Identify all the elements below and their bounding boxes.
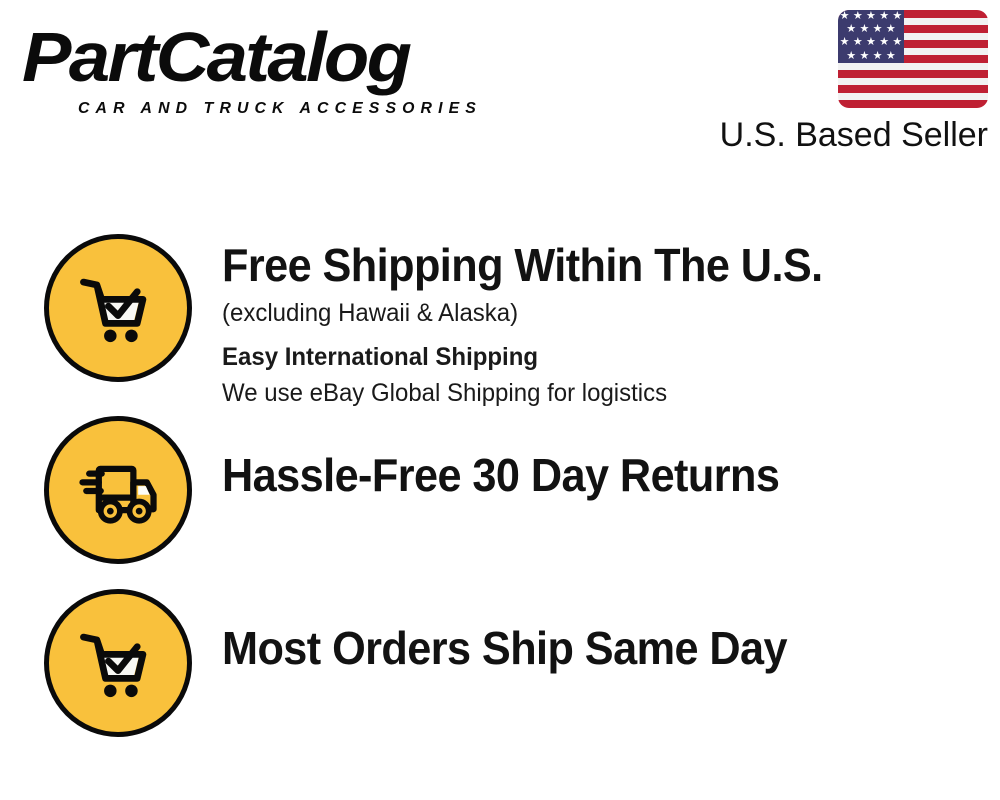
feature-subtext-logistics: We use eBay Global Shipping for logistic… [222, 376, 959, 410]
flag-star-row: ★ ★ ★ ★ [838, 23, 911, 36]
flag-star: ★ [838, 37, 851, 48]
feature-text-block: Hassle-Free 30 Day Returns [222, 448, 990, 502]
flag-star: ★ [845, 51, 858, 62]
flag-star: ★ [838, 11, 851, 22]
us-flag-icon: ★ ★ ★ ★ ★ ★ ★ ★ ★ ★ ★ ★ ★ ★ ★ ★ [838, 10, 988, 108]
flag-star: ★ [851, 37, 864, 48]
feature-headline: Hassle-Free 30 Day Returns [222, 448, 944, 502]
flag-stripe [838, 100, 988, 108]
shopping-cart-check-icon [44, 589, 192, 737]
flag-star: ★ [858, 51, 871, 62]
flag-stripe [838, 63, 988, 71]
feature-row: Hassle-Free 30 Day Returns [0, 406, 1000, 578]
shopping-cart-check-icon [44, 234, 192, 382]
delivery-truck-icon [44, 416, 192, 564]
brand-wordmark: PartCatalog [22, 22, 409, 92]
flag-star: ★ [871, 51, 884, 62]
feature-text-block: Most Orders Ship Same Day [222, 621, 990, 675]
seller-label: U.S. Based Seller [720, 115, 988, 155]
flag-star: ★ [878, 37, 891, 48]
feature-row: Most Orders Ship Same Day [0, 577, 1000, 749]
flag-star-row: ★ ★ ★ ★ ★ [838, 36, 904, 49]
flag-star: ★ [864, 37, 877, 48]
feature-subtext-exclusion: (excluding Hawaii & Alaska) [222, 296, 959, 330]
flag-star: ★ [884, 24, 897, 35]
flag-star-row: ★ ★ ★ ★ ★ [838, 10, 904, 23]
flag-stripe [838, 78, 988, 86]
flag-star: ★ [851, 11, 864, 22]
page-header: PartCatalog CAR AND TRUCK ACCESSORIES ★ … [0, 0, 1000, 175]
feature-headline: Free Shipping Within The U.S. [222, 238, 944, 292]
feature-text-block: Free Shipping Within The U.S. (excluding… [222, 238, 990, 410]
flag-stripe [838, 93, 988, 101]
flag-star: ★ [845, 24, 858, 35]
flag-star-row: ★ ★ ★ ★ [838, 50, 911, 63]
flag-star: ★ [878, 11, 891, 22]
flag-star: ★ [871, 24, 884, 35]
feature-subtext-international: Easy International Shipping [222, 340, 959, 374]
flag-star: ★ [884, 51, 897, 62]
brand-logo: PartCatalog CAR AND TRUCK ACCESSORIES [22, 22, 492, 112]
feature-headline: Most Orders Ship Same Day [222, 621, 944, 675]
feature-list: Free Shipping Within The U.S. (excluding… [0, 175, 1000, 800]
brand-tagline: CAR AND TRUCK ACCESSORIES [78, 100, 482, 118]
feature-row: Free Shipping Within The U.S. (excluding… [0, 234, 1000, 409]
flag-star: ★ [858, 24, 871, 35]
flag-star: ★ [891, 37, 904, 48]
flag-stripe [838, 70, 988, 78]
flag-canton: ★ ★ ★ ★ ★ ★ ★ ★ ★ ★ ★ ★ ★ ★ ★ ★ [838, 10, 904, 63]
flag-stripe [838, 85, 988, 93]
flag-star: ★ [891, 11, 904, 22]
flag-star: ★ [864, 11, 877, 22]
